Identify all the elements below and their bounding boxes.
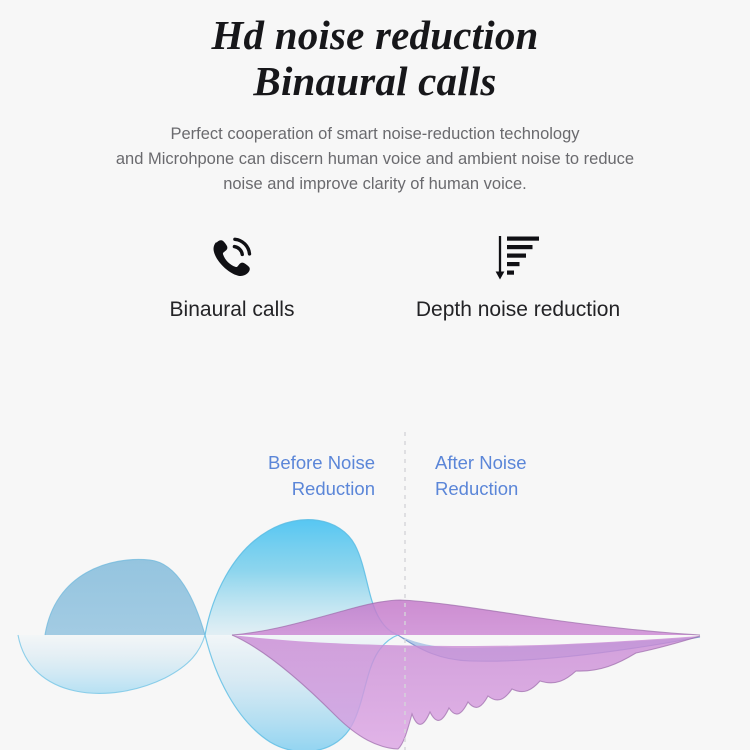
title-line-2: Binaural calls xyxy=(0,58,750,104)
waveform-illustration xyxy=(0,0,750,750)
feature-label: Depth noise reduction xyxy=(416,298,620,322)
feature-depth-noise-reduction: Depth noise reduction xyxy=(393,228,643,322)
decreasing-bars-down-arrow-icon xyxy=(493,228,543,286)
label-after-line-1: After Noise xyxy=(435,450,655,476)
subtitle-line-3: noise and improve clarity of human voice… xyxy=(0,172,750,197)
page-title: Hd noise reduction Binaural calls xyxy=(0,12,750,104)
feature-list: Binaural calls Depth noise reduction xyxy=(0,228,750,322)
label-after-noise-reduction: After Noise Reduction xyxy=(435,450,655,502)
phone-call-icon xyxy=(204,228,260,286)
title-line-1: Hd noise reduction xyxy=(0,12,750,58)
feature-label: Binaural calls xyxy=(170,298,295,322)
feature-panel: Hd noise reduction Binaural calls Perfec… xyxy=(0,0,750,750)
label-before-line-2: Reduction xyxy=(155,476,375,502)
after-noise-reduction-wave xyxy=(232,600,700,749)
comparison-labels: Before Noise Reduction After Noise Reduc… xyxy=(0,450,750,510)
label-after-line-2: Reduction xyxy=(435,476,655,502)
subtitle-line-1: Perfect cooperation of smart noise-reduc… xyxy=(0,122,750,147)
subtitle-line-2: and Microhpone can discern human voice a… xyxy=(0,147,750,172)
subtitle: Perfect cooperation of smart noise-reduc… xyxy=(0,122,750,197)
before-noise-reduction-wave xyxy=(18,520,700,750)
feature-binaural-calls: Binaural calls xyxy=(107,228,357,322)
label-before-line-1: Before Noise xyxy=(155,450,375,476)
label-before-noise-reduction: Before Noise Reduction xyxy=(155,450,375,502)
